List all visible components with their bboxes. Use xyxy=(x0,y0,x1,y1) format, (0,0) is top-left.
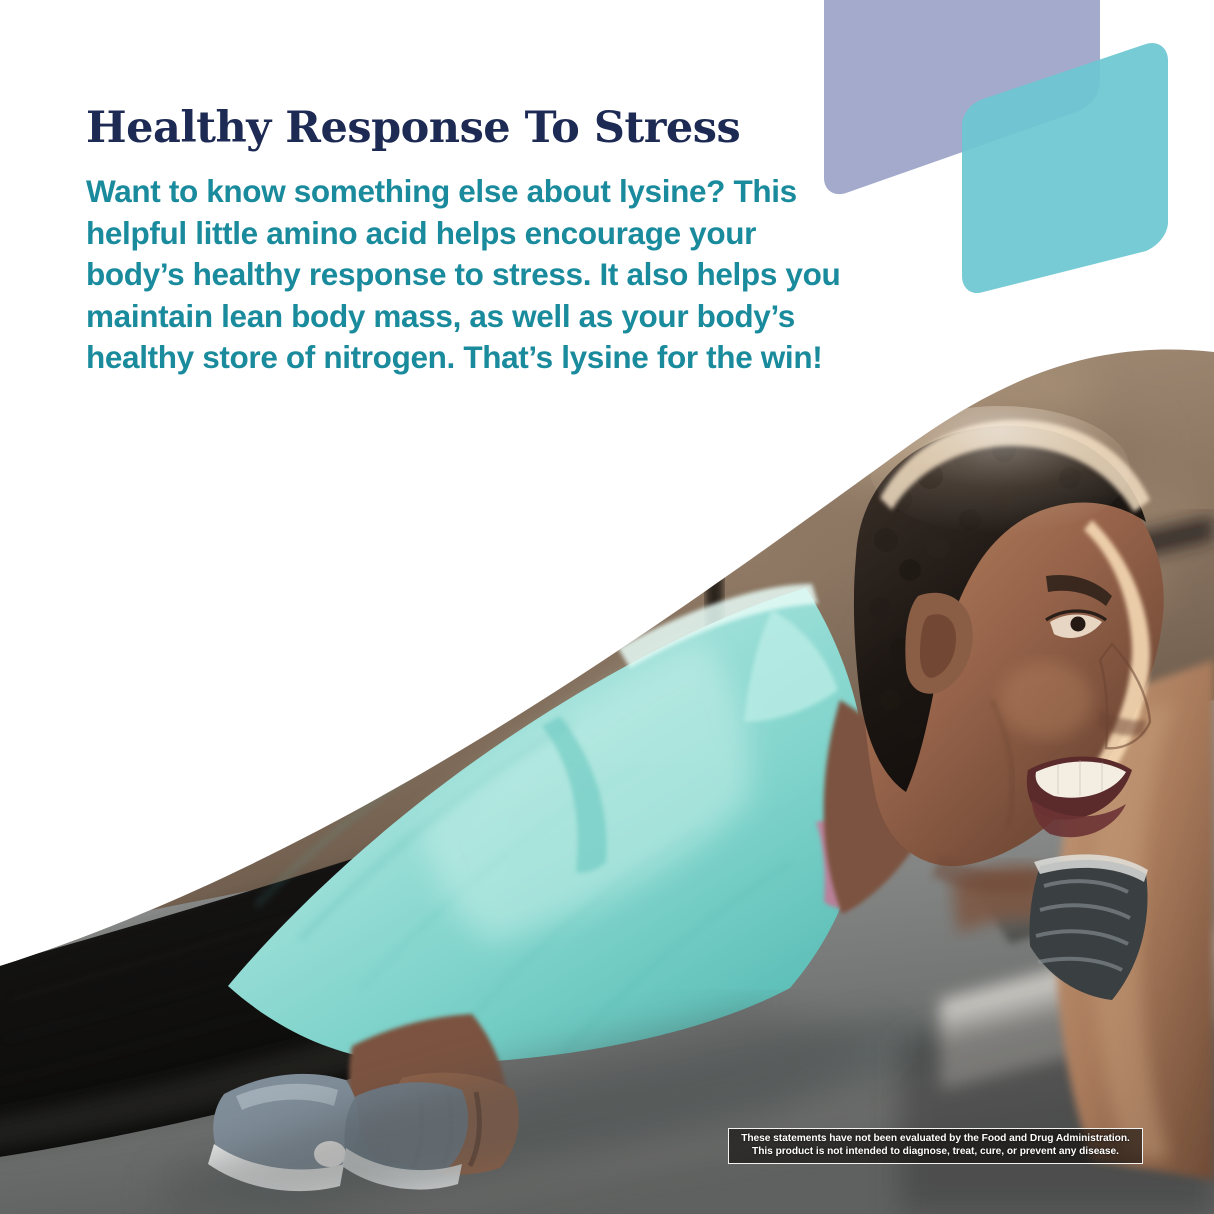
text-content-block: Healthy Response To Stress Want to know … xyxy=(86,104,876,379)
subject-pupil xyxy=(1071,617,1086,632)
body-line-2: helpful little amino acid helps encourag… xyxy=(86,213,876,255)
teal-hexagon xyxy=(962,43,1168,293)
body-paragraph: Want to know something else about lysine… xyxy=(86,171,876,379)
fda-disclaimer-box: These statements have not been evaluated… xyxy=(728,1128,1143,1164)
disclaimer-line-2: This product is not intended to diagnose… xyxy=(735,1146,1136,1159)
body-line-4: maintain lean body mass, as well as your… xyxy=(86,296,876,338)
cheek-highlight xyxy=(1000,662,1092,738)
page-title: Healthy Response To Stress xyxy=(86,104,876,152)
marketing-infographic-page: Healthy Response To Stress Want to know … xyxy=(0,0,1214,1214)
body-line-3: body’s healthy response to stress. It al… xyxy=(86,254,876,296)
hair-glow xyxy=(870,406,1130,534)
body-line-1: Want to know something else about lysine… xyxy=(86,171,876,213)
disclaimer-line-1: These statements have not been evaluated… xyxy=(735,1133,1136,1146)
body-line-5: healthy store of nitrogen. That’s lysine… xyxy=(86,337,876,379)
